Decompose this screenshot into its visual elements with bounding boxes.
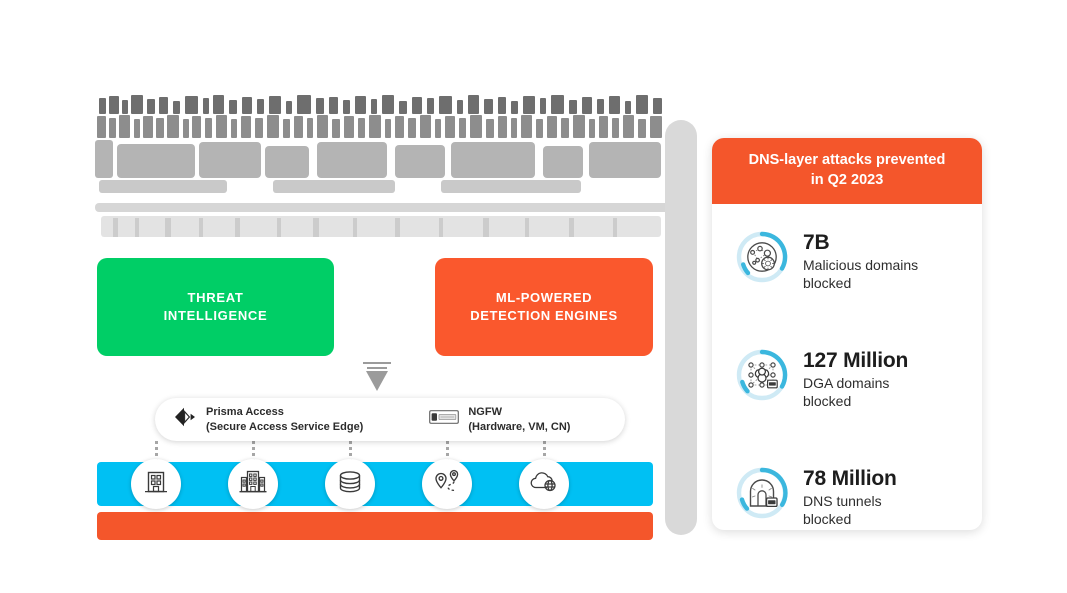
threat-intelligence-label-line2: INTELLIGENCE xyxy=(164,307,268,325)
capability-box-threat-intelligence: THREAT INTELLIGENCE xyxy=(97,258,334,356)
ngfw-line2: (Hardware, VM, CN) xyxy=(468,420,570,435)
prisma-access-line2: (Secure Access Service Edge) xyxy=(206,420,363,435)
endpoint-data-center[interactable] xyxy=(325,459,375,509)
endpoint-branch-office[interactable] xyxy=(131,459,181,509)
endpoint-cloud[interactable] xyxy=(519,459,569,509)
dns-stats-list: 7B Malicious domains blocked xyxy=(712,204,982,530)
stat-label-dns-tunnels-line2: blocked xyxy=(803,511,897,529)
stat-row-dns-tunnels: 78 Million DNS tunnels blocked xyxy=(712,454,982,530)
architecture-diagram: THREAT INTELLIGENCE ML-POWERED DETECTION… xyxy=(95,85,665,540)
stat-text-dns-tunnels: 78 Million DNS tunnels blocked xyxy=(803,465,897,529)
stat-value-malicious-domains: 7B xyxy=(803,231,918,255)
enforcement-points-bar: Prisma Access (Secure Access Service Edg… xyxy=(155,398,625,441)
ml-detection-label-line1: ML-POWERED xyxy=(496,289,592,307)
diagram-right-spine xyxy=(665,120,697,535)
ngfw-line1: NGFW xyxy=(468,405,570,420)
stat-value-dns-tunnels: 78 Million xyxy=(803,467,897,491)
stat-label-dga-domains-line1: DGA domains xyxy=(803,375,908,393)
stat-row-dga-domains: 127 Million DGA domains blocked xyxy=(712,336,982,422)
flow-down-arrow-icon xyxy=(353,357,401,393)
capability-box-ml-detection-engines: ML-POWERED DETECTION ENGINES xyxy=(435,258,653,356)
stat-value-dga-domains: 127 Million xyxy=(803,349,908,373)
office-building-icon xyxy=(239,469,267,500)
prisma-access-line1: Prisma Access xyxy=(206,405,363,420)
prisma-access-logo xyxy=(173,407,197,432)
threat-intelligence-label-line1: THREAT xyxy=(188,289,244,307)
branch-building-icon xyxy=(143,469,169,500)
dga-mesh-network-icon xyxy=(734,347,790,403)
stat-label-dga-domains-line2: blocked xyxy=(803,393,908,411)
malicious-domain-network-icon xyxy=(734,229,790,285)
stats-header-line1: DNS-layer attacks prevented xyxy=(728,151,966,171)
enforcement-item-prisma-access[interactable]: Prisma Access (Secure Access Service Edg… xyxy=(173,405,363,434)
stat-label-malicious-domains-line1: Malicious domains xyxy=(803,257,918,275)
endpoint-headquarters[interactable] xyxy=(228,459,278,509)
dns-stats-card-header: DNS-layer attacks prevented in Q2 2023 xyxy=(712,138,982,204)
obscured-subtext-block xyxy=(95,203,665,237)
stat-label-dns-tunnels-line1: DNS tunnels xyxy=(803,493,897,511)
cloud-network-icon xyxy=(529,470,559,499)
enforcement-item-ngfw[interactable]: NGFW (Hardware, VM, CN) xyxy=(429,405,570,434)
infographic-canvas: THREAT INTELLIGENCE ML-POWERED DETECTION… xyxy=(0,0,1067,593)
firewall-appliance-icon xyxy=(429,410,459,429)
dns-tunnel-icon xyxy=(734,465,790,521)
stat-row-malicious-domains: 7B Malicious domains blocked xyxy=(712,218,982,304)
dns-stats-card: DNS-layer attacks prevented in Q2 2023 xyxy=(712,138,982,530)
endpoint-remote-locations[interactable] xyxy=(422,459,472,509)
stats-header-line2: in Q2 2023 xyxy=(728,171,966,191)
obscured-text-block xyxy=(95,92,665,197)
stat-text-dga-domains: 127 Million DGA domains blocked xyxy=(803,347,908,411)
location-pin-route-icon xyxy=(432,469,462,500)
ml-detection-label-line2: DETECTION ENGINES xyxy=(470,307,617,325)
stat-text-malicious-domains: 7B Malicious domains blocked xyxy=(803,229,918,293)
database-icon xyxy=(336,469,364,500)
stat-label-malicious-domains-line2: blocked xyxy=(803,275,918,293)
bottom-orange-strip xyxy=(97,512,653,540)
